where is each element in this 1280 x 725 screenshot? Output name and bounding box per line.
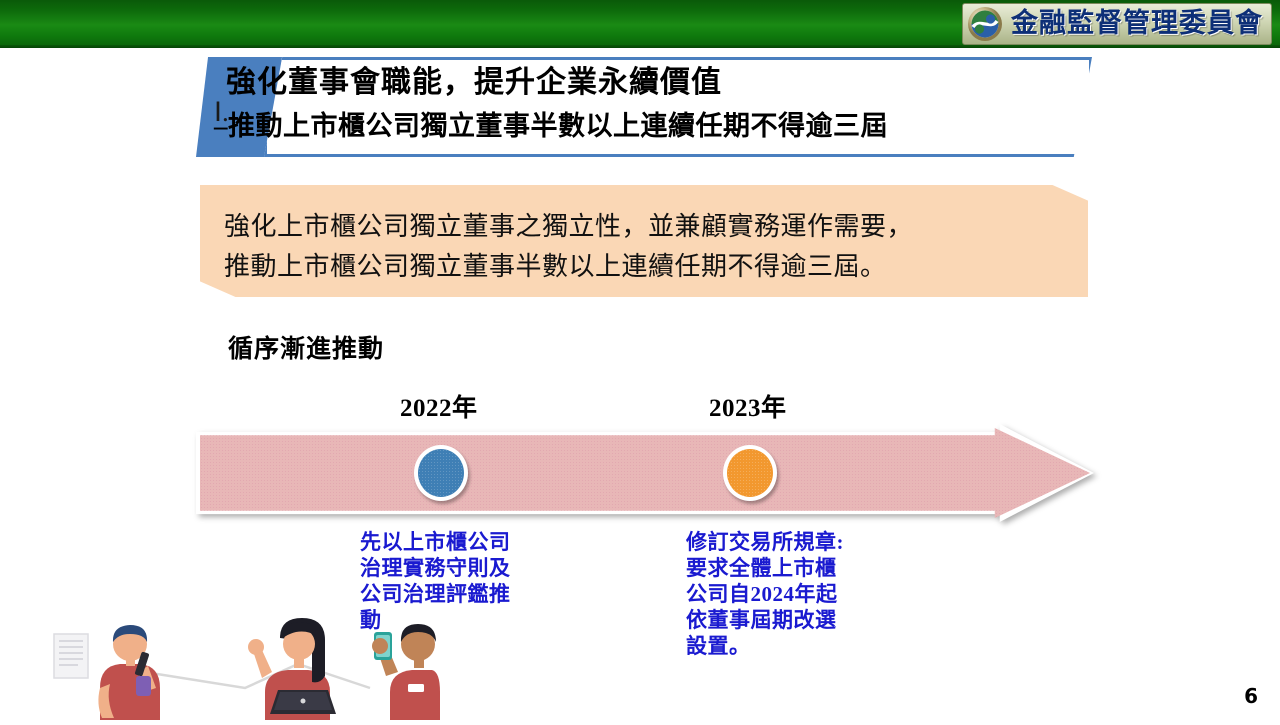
note-2023-line-5: 設置。	[686, 633, 906, 659]
note-2022-line-2: 治理實務守則及	[360, 555, 570, 581]
title-text-group: 強化董事會職能，提升企業永續價值 –推動上市櫃公司獨立董事半數以上連續任期不得逾…	[226, 61, 1078, 147]
note-2022-line-1: 先以上市櫃公司	[360, 529, 570, 555]
title-line-secondary: –推動上市櫃公司獨立董事半數以上連續任期不得逾三屆	[214, 105, 1078, 147]
summary-callout-box: 強化上市櫃公司獨立董事之獨立性，並兼顧實務運作需要， 推動上市櫃公司獨立董事半數…	[200, 185, 1088, 297]
three-people-networking-illustration	[40, 592, 440, 720]
timeline-arrow-fill	[200, 428, 1090, 518]
summary-callout-text: 強化上市櫃公司獨立董事之獨立性，並兼顧實務運作需要， 推動上市櫃公司獨立董事半數…	[224, 207, 913, 287]
callout-line-1: 強化上市櫃公司獨立董事之獨立性，並兼顧實務運作需要，	[224, 207, 913, 247]
timeline-node-2022	[414, 445, 468, 501]
note-2023-line-1: 修訂交易所規章:	[686, 529, 906, 555]
timeline-node-2023	[723, 445, 777, 501]
note-2023-line-2: 要求全體上市櫃	[686, 555, 906, 581]
timeline-note-2023: 修訂交易所規章: 要求全體上市櫃 公司自2024年起 依董事屆期改選 設置。	[686, 529, 906, 659]
agency-plate: 金融監督管理委員會	[962, 3, 1272, 45]
fsc-emblem-icon	[967, 6, 1003, 42]
timeline-year-2023: 2023年	[709, 388, 787, 424]
timeline-year-2022: 2022年	[400, 388, 478, 424]
timeline-arrow	[196, 424, 1094, 522]
page-number: 6	[1244, 684, 1258, 708]
callout-line-2: 推動上市櫃公司獨立董事半數以上連續任期不得逾三屆。	[224, 247, 913, 287]
header-band: 金融監督管理委員會	[0, 0, 1280, 48]
title-line-primary: 強化董事會職能，提升企業永續價值	[226, 61, 1078, 105]
agency-name: 金融監督管理委員會	[1011, 6, 1263, 42]
note-2023-line-4: 依董事屆期改選	[686, 607, 906, 633]
timeline-heading: 循序漸進推動	[228, 329, 384, 365]
slide-title-banner: Ⅰ. 強化董事會職能，提升企業永續價值 –推動上市櫃公司獨立董事半數以上連續任期…	[196, 57, 1092, 162]
note-2023-line-3: 公司自2024年起	[686, 581, 906, 607]
